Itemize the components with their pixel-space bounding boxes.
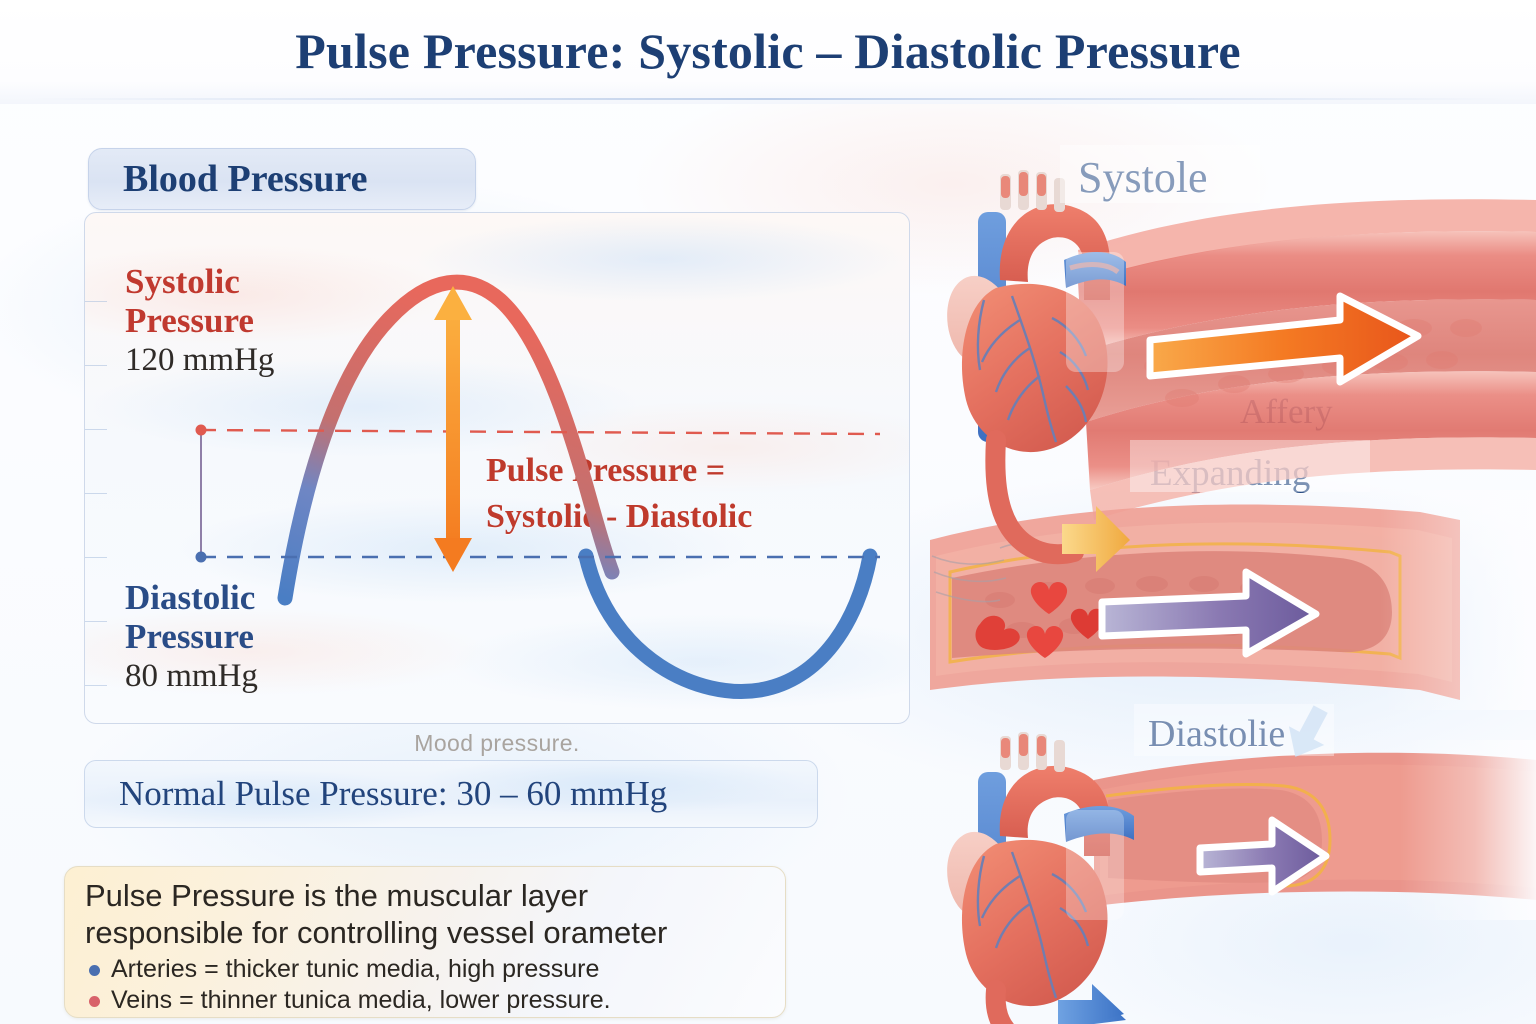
axis-tick bbox=[85, 365, 107, 366]
axis-tick bbox=[85, 621, 107, 622]
systolic-label-line1: Systolic bbox=[125, 262, 274, 301]
bullet-dot-icon bbox=[89, 996, 100, 1007]
formula-line-2: Systolic - Diastolic bbox=[486, 494, 886, 540]
bullet-dot-icon bbox=[89, 965, 100, 976]
title-bar: Pulse Pressure: Systolic – Diastolic Pre… bbox=[0, 0, 1536, 104]
callout-bullet-text: Arteries = thicker tunic media, high pre… bbox=[111, 955, 599, 983]
page-title: Pulse Pressure: Systolic – Diastolic Pre… bbox=[0, 22, 1536, 80]
blood-pressure-badge: Blood Pressure bbox=[88, 148, 476, 210]
chart-caption: Mood pressure. bbox=[84, 730, 910, 757]
diastole-label: Diastolie bbox=[1148, 712, 1285, 756]
pulse-pressure-formula: Pulse Pressure = Systolic - Diastolic bbox=[486, 448, 886, 540]
diastolic-value: 80 mmHg bbox=[125, 656, 258, 696]
list-item: Arteries = thicker tunic media, high pre… bbox=[85, 954, 767, 985]
axis-tick bbox=[85, 557, 107, 558]
axis-tick bbox=[85, 685, 107, 686]
diastolic-pressure-label-group: Diastolic Pressure 80 mmHg bbox=[125, 578, 258, 696]
diastolic-label-line1: Diastolic bbox=[125, 578, 258, 617]
callout-heading-line1: Pulse Pressure is the muscular layer bbox=[85, 877, 767, 914]
expanding-label: Expanding bbox=[1150, 452, 1310, 495]
axis-tick bbox=[85, 493, 107, 494]
callout-bullet-text: Veins = thinner tunica media, lower pres… bbox=[111, 986, 611, 1014]
systolic-value: 120 mmHg bbox=[125, 340, 274, 380]
normal-pulse-pressure-bar: Normal Pulse Pressure: 30 – 60 mmHg bbox=[84, 760, 818, 828]
normal-pulse-pressure-label: Normal Pulse Pressure: 30 – 60 mmHg bbox=[85, 774, 667, 814]
diastolic-label-line2: Pressure bbox=[125, 617, 258, 656]
callout-heading-line2: responsible for controlling vessel orame… bbox=[85, 914, 767, 951]
systole-label: Systole bbox=[1078, 152, 1208, 203]
axis-tick bbox=[85, 429, 107, 430]
formula-line-1: Pulse Pressure = bbox=[486, 452, 725, 489]
list-item: Veins = thinner tunica media, lower pres… bbox=[85, 985, 767, 1016]
systolic-pressure-label-group: Systolic Pressure 120 mmHg bbox=[125, 262, 274, 380]
systolic-label-line2: Pressure bbox=[125, 301, 274, 340]
axis-tick bbox=[85, 301, 107, 302]
pulse-pressure-callout-box: Pulse Pressure is the muscular layer res… bbox=[64, 866, 786, 1018]
blood-pressure-badge-label: Blood Pressure bbox=[89, 157, 368, 201]
artery-label: Affery bbox=[1240, 392, 1333, 432]
callout-bullet-list: Arteries = thicker tunic media, high pre… bbox=[85, 954, 767, 1016]
